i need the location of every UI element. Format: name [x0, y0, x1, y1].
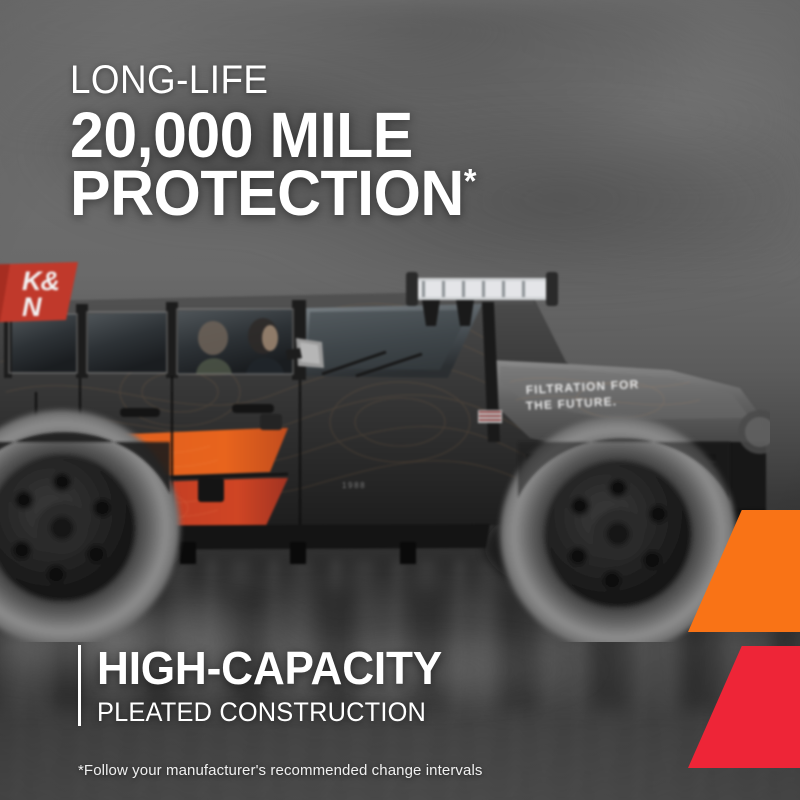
- fuel-cap: [198, 478, 224, 502]
- headline-line-2-text: PROTECTION: [70, 157, 464, 229]
- window-rear-quarter: [10, 314, 76, 372]
- subhead-subtitle: PLEATED CONSTRUCTION: [97, 698, 435, 726]
- vehicle-illustration: K& N 1988 FILTRATION FOR: [0, 242, 770, 642]
- door-badge-kn: K& N: [0, 262, 78, 324]
- svg-text:N: N: [22, 292, 42, 322]
- window-rear-door: [88, 312, 166, 372]
- subhead-title: HIGH-CAPACITY: [97, 645, 442, 691]
- headline-kicker: LONG-LIFE: [70, 58, 659, 102]
- subhead-block: HIGH-CAPACITY PLEATED CONSTRUCTION: [78, 645, 456, 726]
- subhead-accent-rule: [78, 645, 81, 726]
- headline-block: LONG-LIFE 20,000 MILE PROTECTION*: [70, 58, 710, 224]
- subhead-text-group: HIGH-CAPACITY PLEATED CONSTRUCTION: [97, 645, 456, 726]
- body-number: 1988: [342, 481, 366, 490]
- headline-line-2: PROTECTION*: [70, 162, 678, 224]
- headline-asterisk: *: [464, 163, 476, 201]
- banner-canvas: K& N 1988 FILTRATION FOR: [0, 0, 800, 800]
- footnote-text: *Follow your manufacturer's recommended …: [78, 762, 482, 780]
